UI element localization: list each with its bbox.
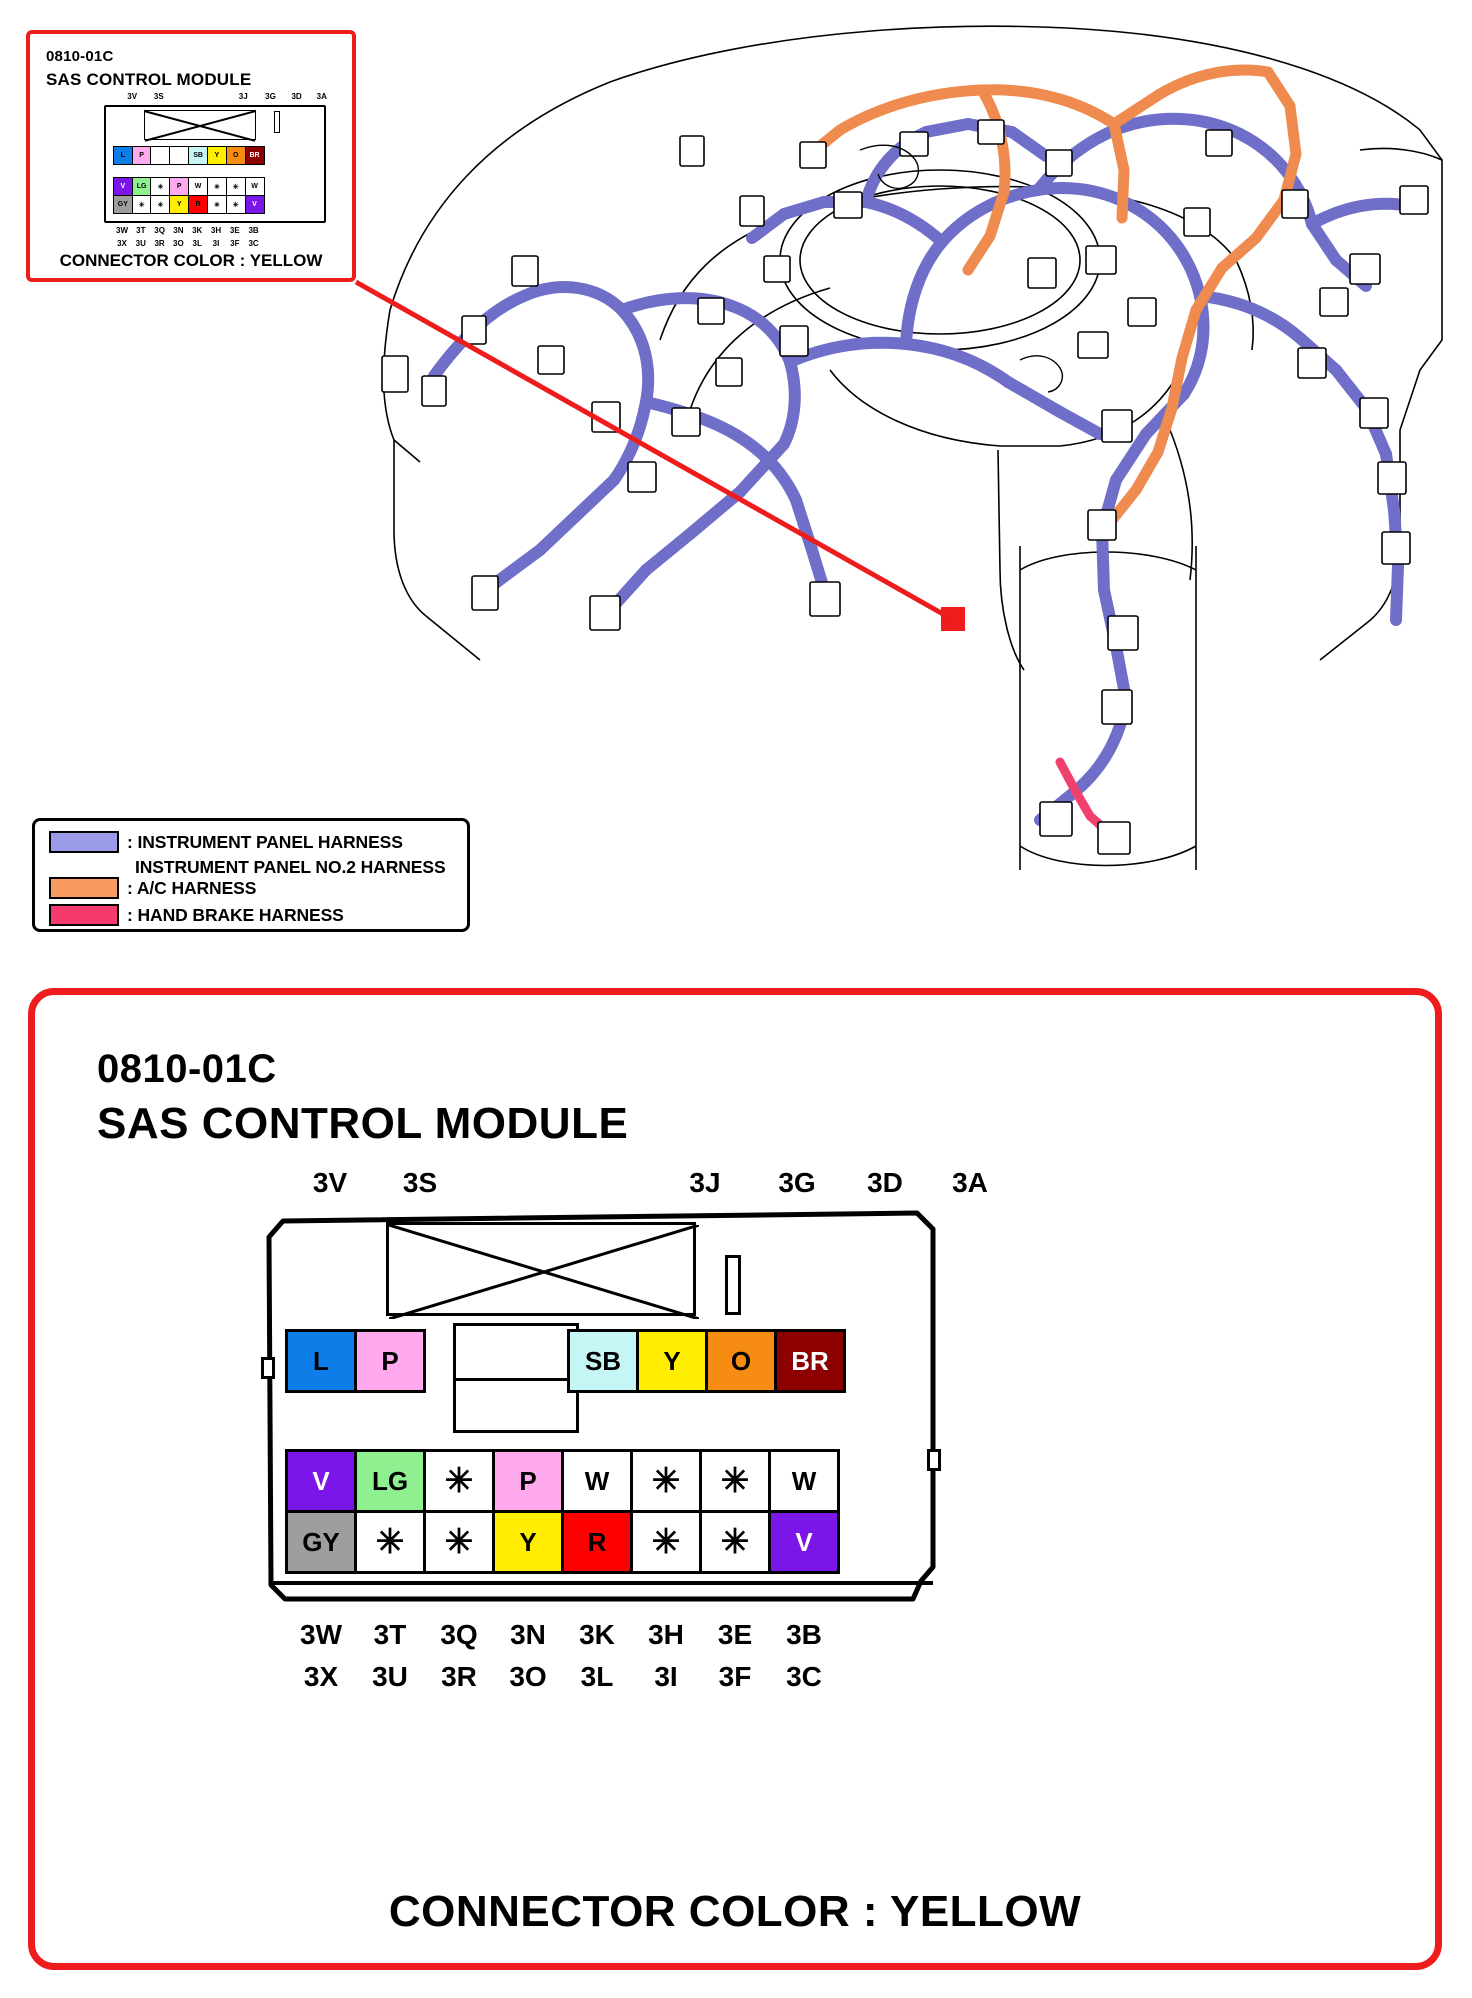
inset-pin-cell: L <box>113 146 133 165</box>
inset-bottom-pin-label: 3F <box>230 239 239 248</box>
inset-bottom-pin-label: 3L <box>193 239 202 248</box>
inset-pin-cell: Y <box>207 146 227 165</box>
legend-label-ac: : A/C HARNESS <box>127 878 256 899</box>
inset-connector-color-label: CONNECTOR COLOR : YELLOW <box>30 251 352 271</box>
pin-cell: L <box>285 1329 357 1393</box>
top-pin-label: 3G <box>778 1167 815 1199</box>
connector-diagram: 3V3S3J3G3D3A <box>235 1167 1045 1727</box>
top-pin-label: 3S <box>403 1167 437 1199</box>
legend-swatch-ac <box>49 877 119 899</box>
bottom-pin-label: 3R <box>441 1661 477 1693</box>
legend-label-instrument-panel: : INSTRUMENT PANEL HARNESS <box>127 832 403 853</box>
inset-top-pin-label: 3J <box>239 92 248 101</box>
legend-swatch-hand-brake <box>49 904 119 926</box>
inset-top-pin-labels: 3V3S3J3G3D3A <box>94 92 334 104</box>
inset-callout-box: 0810-01C SAS CONTROL MODULE 3V3S3J3G3D3A… <box>26 30 356 282</box>
inset-pin-cell: BR <box>245 146 265 165</box>
top-pin-label: 3D <box>867 1167 903 1199</box>
inset-connector-body: LPSBYOBR VLG✳PW✳✳W GY✳✳YR✳✳V <box>104 105 326 223</box>
bottom-pin-label: 3N <box>510 1619 546 1651</box>
legend-sublabel-instrument-panel-2: INSTRUMENT PANEL NO.2 HARNESS <box>135 857 446 878</box>
legend-label-hand-brake: : HAND BRAKE HARNESS <box>127 905 344 926</box>
connector-keyway-tab <box>725 1255 741 1315</box>
inset-pin-cell: SB <box>188 146 208 165</box>
inset-pin-gap <box>169 146 189 165</box>
bottom-pin-label: 3L <box>581 1661 614 1693</box>
bottom-pin-label: 3T <box>374 1619 407 1651</box>
inset-bottom-pin-label: 3B <box>248 226 258 235</box>
inset-pin-cell: ✳ <box>132 195 152 214</box>
inset-bottom-pin-label: 3U <box>136 239 146 248</box>
inset-bottom-pin-label: 3K <box>192 226 202 235</box>
legend-item-ac: : A/C HARNESS <box>49 877 256 899</box>
pin-cell: V <box>768 1510 840 1574</box>
inset-crossed-box <box>144 110 256 140</box>
inset-pin-cell: GY <box>113 195 133 214</box>
inset-pin-cell: W <box>245 177 265 196</box>
inset-bottom-pin-label: 3C <box>248 239 258 248</box>
inset-bottom-pin-label: 3N <box>173 226 183 235</box>
bottom-pin-labels-row-2: 3X3U3R3O3L3I3F3C <box>235 1661 1045 1695</box>
inset-pin-cell: P <box>132 146 152 165</box>
top-pin-label: 3J <box>689 1167 720 1199</box>
inset-pin-cell: V <box>113 177 133 196</box>
inset-pin-cell: O <box>226 146 246 165</box>
inset-pin-cell: ✳ <box>207 195 227 214</box>
inset-connector-diagram: 3V3S3J3G3D3A LPSBYOBR VLG✳PW✳✳W GY✳✳YR✳✳… <box>94 92 334 252</box>
pin-cell: O <box>705 1329 777 1393</box>
legend-item-hand-brake: : HAND BRAKE HARNESS <box>49 904 344 926</box>
pin-cell: Y <box>636 1329 708 1393</box>
bottom-pin-label: 3B <box>786 1619 822 1651</box>
bottom-pin-label: 3C <box>786 1661 822 1693</box>
inset-pin-cell: LG <box>132 177 152 196</box>
pin-cell: ✳ <box>630 1510 702 1574</box>
pin-cell: BR <box>774 1329 846 1393</box>
pin-cell: ✳ <box>354 1510 426 1574</box>
inset-bottom-pin-label: 3E <box>230 226 240 235</box>
inset-bottom-pin-label: 3R <box>154 239 164 248</box>
inset-bottom-pin-label: 3W <box>116 226 128 235</box>
connector-left-lug <box>261 1357 275 1379</box>
inset-pin-cell: P <box>169 177 189 196</box>
legend-swatch-instrument-panel <box>49 831 119 853</box>
connector-color-label: CONNECTOR COLOR : YELLOW <box>35 1887 1435 1937</box>
pin-gap <box>498 1329 570 1393</box>
connector-outline: LPSBYOBR VLG✳PW✳✳W GY✳✳YR✳✳V <box>265 1207 937 1603</box>
inset-pin-cell: ✳ <box>207 177 227 196</box>
pin-cell: W <box>561 1449 633 1513</box>
pin-row-2: VLG✳PW✳✳W <box>285 1449 840 1513</box>
inset-pin-cell: W <box>188 177 208 196</box>
inset-top-pin-label: 3G <box>265 92 276 101</box>
inset-notch <box>274 111 280 133</box>
inset-top-pin-label: 3A <box>317 92 327 101</box>
bottom-pin-label: 3U <box>372 1661 408 1693</box>
inset-bottom-pin-label: 3I <box>213 239 220 248</box>
bottom-pin-label: 3X <box>304 1661 338 1693</box>
pin-row-1: LPSBYOBR <box>285 1329 846 1393</box>
inset-pin-cell: ✳ <box>226 177 246 196</box>
bottom-pin-label: 3Q <box>440 1619 477 1651</box>
inset-pin-cell: V <box>245 195 265 214</box>
connector-right-lug <box>927 1449 941 1471</box>
inset-bottom-pin-label: 3T <box>136 226 145 235</box>
inset-module-title: SAS CONTROL MODULE <box>46 70 251 90</box>
crossed-keyway-box <box>386 1222 696 1316</box>
diagram-page: 0810-01C SAS CONTROL MODULE 3V3S3J3G3D3A… <box>0 0 1472 1998</box>
inset-top-pin-label: 3S <box>154 92 164 101</box>
bottom-pin-label: 3O <box>509 1661 546 1693</box>
inset-module-code: 0810-01C <box>46 48 113 65</box>
pin-cell: ✳ <box>699 1510 771 1574</box>
inset-top-pin-label: 3D <box>291 92 301 101</box>
pin-cell: Y <box>492 1510 564 1574</box>
inset-pin-cell: ✳ <box>150 177 170 196</box>
module-code: 0810-01C <box>97 1047 277 1092</box>
inset-pin-cell: ✳ <box>226 195 246 214</box>
inset-pin-row-2: VLG✳PW✳✳W <box>114 177 265 196</box>
inset-bottom-pin-label: 3X <box>117 239 127 248</box>
pin-cell: W <box>768 1449 840 1513</box>
pin-cell: ✳ <box>423 1510 495 1574</box>
inset-bottom-pin-labels-2: 3X3U3R3O3L3I3F3C <box>94 239 334 251</box>
top-pin-labels: 3V3S3J3G3D3A <box>235 1167 1045 1201</box>
bottom-pin-label: 3H <box>648 1619 684 1651</box>
pin-cell: V <box>285 1449 357 1513</box>
bottom-pin-label: 3E <box>718 1619 752 1651</box>
callout-target-marker <box>942 608 964 630</box>
pin-row-3: GY✳✳YR✳✳V <box>285 1510 840 1574</box>
pin-cell: GY <box>285 1510 357 1574</box>
inset-pin-cell: Y <box>169 195 189 214</box>
inset-pin-row-1: LPSBYOBR <box>114 146 265 165</box>
connector-detail-panel: 0810-01C SAS CONTROL MODULE 3V3S3J3G3D3A <box>28 988 1442 1970</box>
module-title: SAS CONTROL MODULE <box>97 1099 628 1149</box>
harness-illustration <box>360 10 1470 890</box>
top-pin-label: 3A <box>952 1167 988 1199</box>
inset-top-pin-label: 3V <box>127 92 137 101</box>
pin-cell: P <box>492 1449 564 1513</box>
bottom-pin-label: 3K <box>579 1619 615 1651</box>
pin-cell: P <box>354 1329 426 1393</box>
bottom-pin-labels-row-1: 3W3T3Q3N3K3H3E3B <box>235 1619 1045 1653</box>
inset-bottom-pin-labels-1: 3W3T3Q3N3K3H3E3B <box>94 226 334 238</box>
pin-cell: R <box>561 1510 633 1574</box>
top-pin-label: 3V <box>313 1167 347 1199</box>
pin-cell: SB <box>567 1329 639 1393</box>
pin-cell: ✳ <box>423 1449 495 1513</box>
pin-cell: ✳ <box>699 1449 771 1513</box>
inset-pin-cell: ✳ <box>150 195 170 214</box>
inset-pin-cell: R <box>188 195 208 214</box>
bottom-pin-label: 3F <box>719 1661 752 1693</box>
inset-bottom-pin-label: 3O <box>173 239 184 248</box>
harness-legend-box: : INSTRUMENT PANEL HARNESS INSTRUMENT PA… <box>32 818 470 932</box>
inset-pin-gap <box>150 146 170 165</box>
pin-gap <box>426 1329 498 1393</box>
inset-bottom-pin-label: 3Q <box>154 226 165 235</box>
inset-bottom-pin-label: 3H <box>211 226 221 235</box>
pin-cell: ✳ <box>630 1449 702 1513</box>
inset-pin-row-3: GY✳✳YR✳✳V <box>114 195 265 214</box>
legend-item-instrument-panel: : INSTRUMENT PANEL HARNESS <box>49 831 403 853</box>
pin-cell: LG <box>354 1449 426 1513</box>
bottom-pin-label: 3W <box>300 1619 342 1651</box>
bottom-pin-label: 3I <box>654 1661 677 1693</box>
